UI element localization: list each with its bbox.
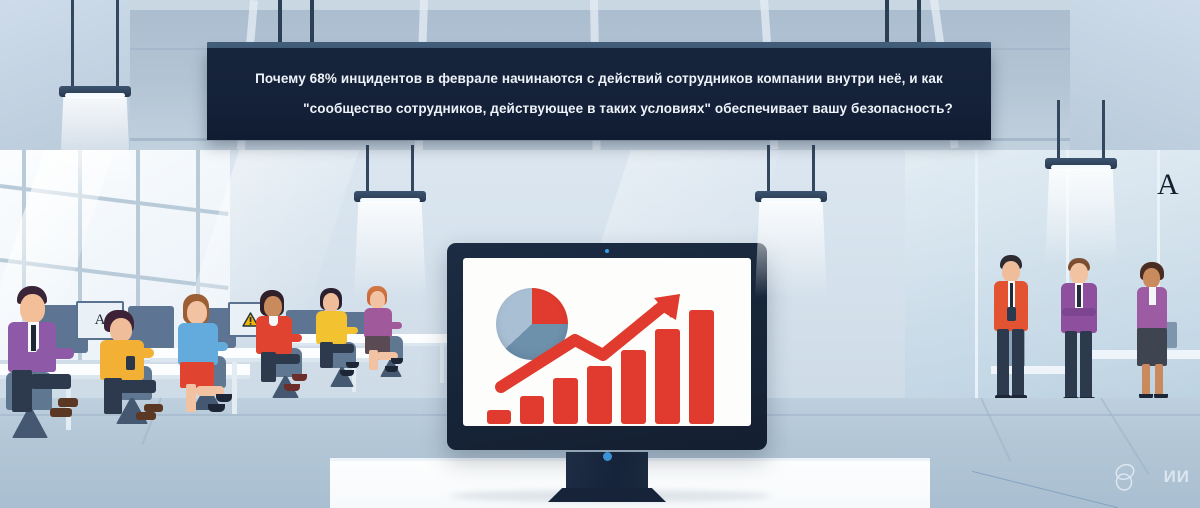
trousers [997,329,1009,397]
shoe [208,404,225,412]
presentation-monitor [447,243,767,450]
tie [31,325,36,351]
light-cone [59,97,131,192]
seated-person-violet [364,286,406,376]
banner-cable [278,0,282,48]
skirt [180,362,214,388]
shoe [284,384,300,391]
ceiling-corner-right [1070,0,1200,150]
arm [276,334,302,342]
seated-person-red [256,290,308,402]
glass-mullion [975,150,978,408]
head [110,318,132,342]
tablet-icon [1007,307,1016,321]
pendant-rod [767,145,770,191]
banner-cable [917,0,921,48]
banner-cable [885,0,889,48]
shoe [50,408,72,417]
pendant-rod [812,145,815,191]
shoe [58,398,78,407]
monitor-base [548,488,666,502]
head [1070,263,1088,284]
presentation-screen [463,258,751,426]
trousers [120,380,156,393]
arm [380,322,402,329]
trousers [330,344,354,353]
floor-seam [980,398,1011,462]
collar [1149,287,1156,305]
legs [186,384,196,412]
seated-person-blue [178,294,236,416]
trousers [1065,331,1077,399]
arm [36,348,74,359]
office-presentation-scene: A [0,0,1200,508]
legs [1142,364,1150,398]
watermark: ИИ [1108,460,1190,494]
head [1002,261,1020,282]
banner-headline-line-2: "сообщество сотрудников, действующее в т… [245,101,953,117]
shoe [292,374,307,381]
banner-headline-line-1: Почему 68% инцидентов в феврале начинают… [255,71,943,87]
arm [200,342,228,351]
watermark-text: ИИ [1164,467,1190,487]
trousers [12,370,32,412]
shoe [144,404,163,412]
trousers [31,374,71,389]
skirt [1137,328,1167,366]
smartphone-icon [126,356,135,370]
shoe [340,370,354,376]
shoe [216,394,232,402]
standing-person-orange [990,255,1032,400]
head [264,296,282,317]
shoe [391,358,403,364]
head [20,294,45,323]
trend-up-arrow-icon [463,258,751,426]
ceiling-band [0,0,1200,10]
monitor-power-led [603,452,612,461]
light-cone [755,202,827,297]
desk-leg [440,343,444,383]
legs [1155,364,1163,398]
seated-person-yellow-phone [100,310,164,420]
trousers [272,354,300,364]
standing-person-woman [1132,262,1172,400]
glass-panel [905,150,975,408]
trousers [1080,331,1092,399]
crossed-arms [1062,308,1096,316]
pendant-rod [116,0,119,86]
trousers [1012,329,1024,397]
seated-person-purple-suit [6,286,78,416]
pendant-rod [1057,100,1060,158]
pendant-rod [411,145,414,191]
light-cone [1045,169,1117,264]
pendant-rod [1102,100,1105,158]
glass-wall-letter: A [1157,168,1179,202]
pendant-rod [366,145,369,191]
shoe [136,412,156,420]
head [323,293,339,312]
webcam-icon [605,249,609,253]
headline-banner: Почему 68% инцидентов в феврале начинают… [207,48,991,140]
pendant-rod [71,0,74,86]
seated-person-yellow [316,288,362,386]
light-cone [354,202,426,297]
tie [1077,285,1081,307]
banner-cable [310,0,314,48]
arm [334,327,358,334]
standing-person-purple [1058,258,1100,400]
tie [1010,283,1013,309]
loop-logo-icon [1108,460,1142,494]
shoe [346,362,359,368]
head [1143,268,1160,288]
shoe [385,366,398,372]
sweater [100,340,144,380]
head [187,301,207,324]
collar [269,316,278,326]
